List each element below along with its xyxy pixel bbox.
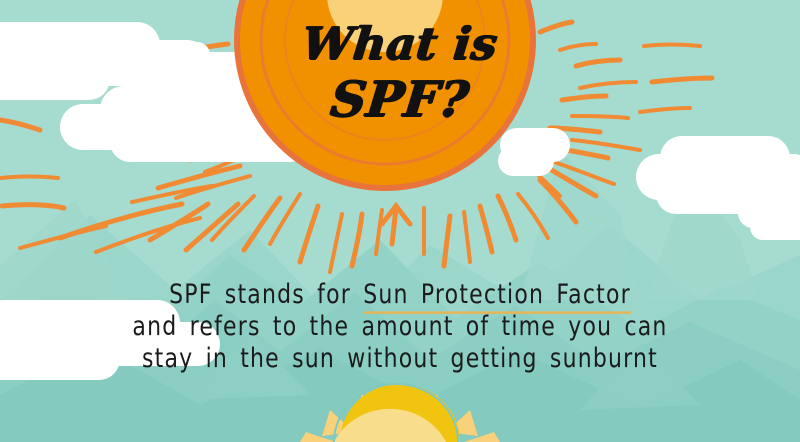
spf-infographic-poster: What is SPF? SPF stands for Sun Protecti… bbox=[0, 0, 800, 442]
illustration-backdrop bbox=[0, 0, 800, 442]
sun-ray bbox=[572, 116, 628, 118]
sun-ray bbox=[0, 177, 58, 179]
sun-ray bbox=[644, 45, 700, 47]
